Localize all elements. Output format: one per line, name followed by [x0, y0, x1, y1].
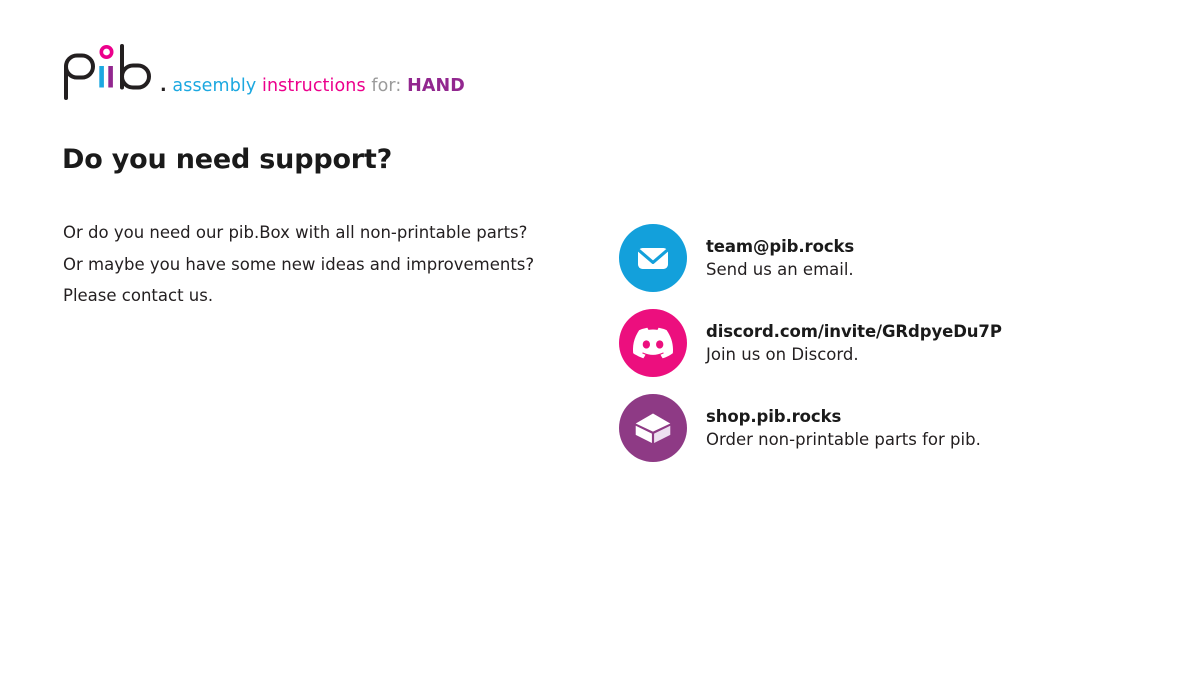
contact-list: team@pib.rocks Send us an email. discord…	[619, 224, 1002, 462]
contact-text-email: team@pib.rocks Send us an email.	[706, 236, 854, 281]
brand-tagline-for: for:	[371, 76, 401, 96]
intro-text-block: Or do you need our pib.Box with all non-…	[63, 217, 583, 312]
brand-tagline-target: HAND	[407, 76, 465, 96]
contact-row-shop[interactable]: shop.pib.rocks Order non-printable parts…	[619, 394, 1002, 462]
intro-line: Please contact us.	[63, 280, 583, 312]
contact-row-discord[interactable]: discord.com/invite/GRdpyeDu7P Join us on…	[619, 309, 1002, 377]
intro-line: Or maybe you have some new ideas and imp…	[63, 249, 583, 281]
discord-icon	[619, 309, 687, 377]
brand-header: . assembly instructions for: HAND	[62, 44, 465, 100]
brand-tagline-instructions: instructions	[262, 76, 366, 96]
slide-page: . assembly instructions for: HAND Do you…	[0, 0, 1200, 675]
pib-logo	[62, 44, 158, 100]
contact-title[interactable]: team@pib.rocks	[706, 236, 854, 258]
contact-subtitle: Join us on Discord.	[706, 343, 1002, 366]
contact-title[interactable]: discord.com/invite/GRdpyeDu7P	[706, 321, 1002, 343]
package-box-icon	[619, 394, 687, 462]
brand-tagline-assembly: assembly	[172, 76, 256, 96]
brand-tagline: . assembly instructions for: HAND	[160, 78, 465, 101]
contact-title[interactable]: shop.pib.rocks	[706, 406, 981, 428]
brand-tagline-dot: .	[160, 76, 167, 96]
intro-line: Or do you need our pib.Box with all non-…	[63, 217, 583, 249]
contact-row-email[interactable]: team@pib.rocks Send us an email.	[619, 224, 1002, 292]
page-title: Do you need support?	[62, 144, 392, 175]
contact-text-discord: discord.com/invite/GRdpyeDu7P Join us on…	[706, 321, 1002, 366]
contact-text-shop: shop.pib.rocks Order non-printable parts…	[706, 406, 981, 451]
contact-subtitle: Order non-printable parts for pib.	[706, 428, 981, 451]
envelope-icon	[619, 224, 687, 292]
contact-subtitle: Send us an email.	[706, 258, 854, 281]
